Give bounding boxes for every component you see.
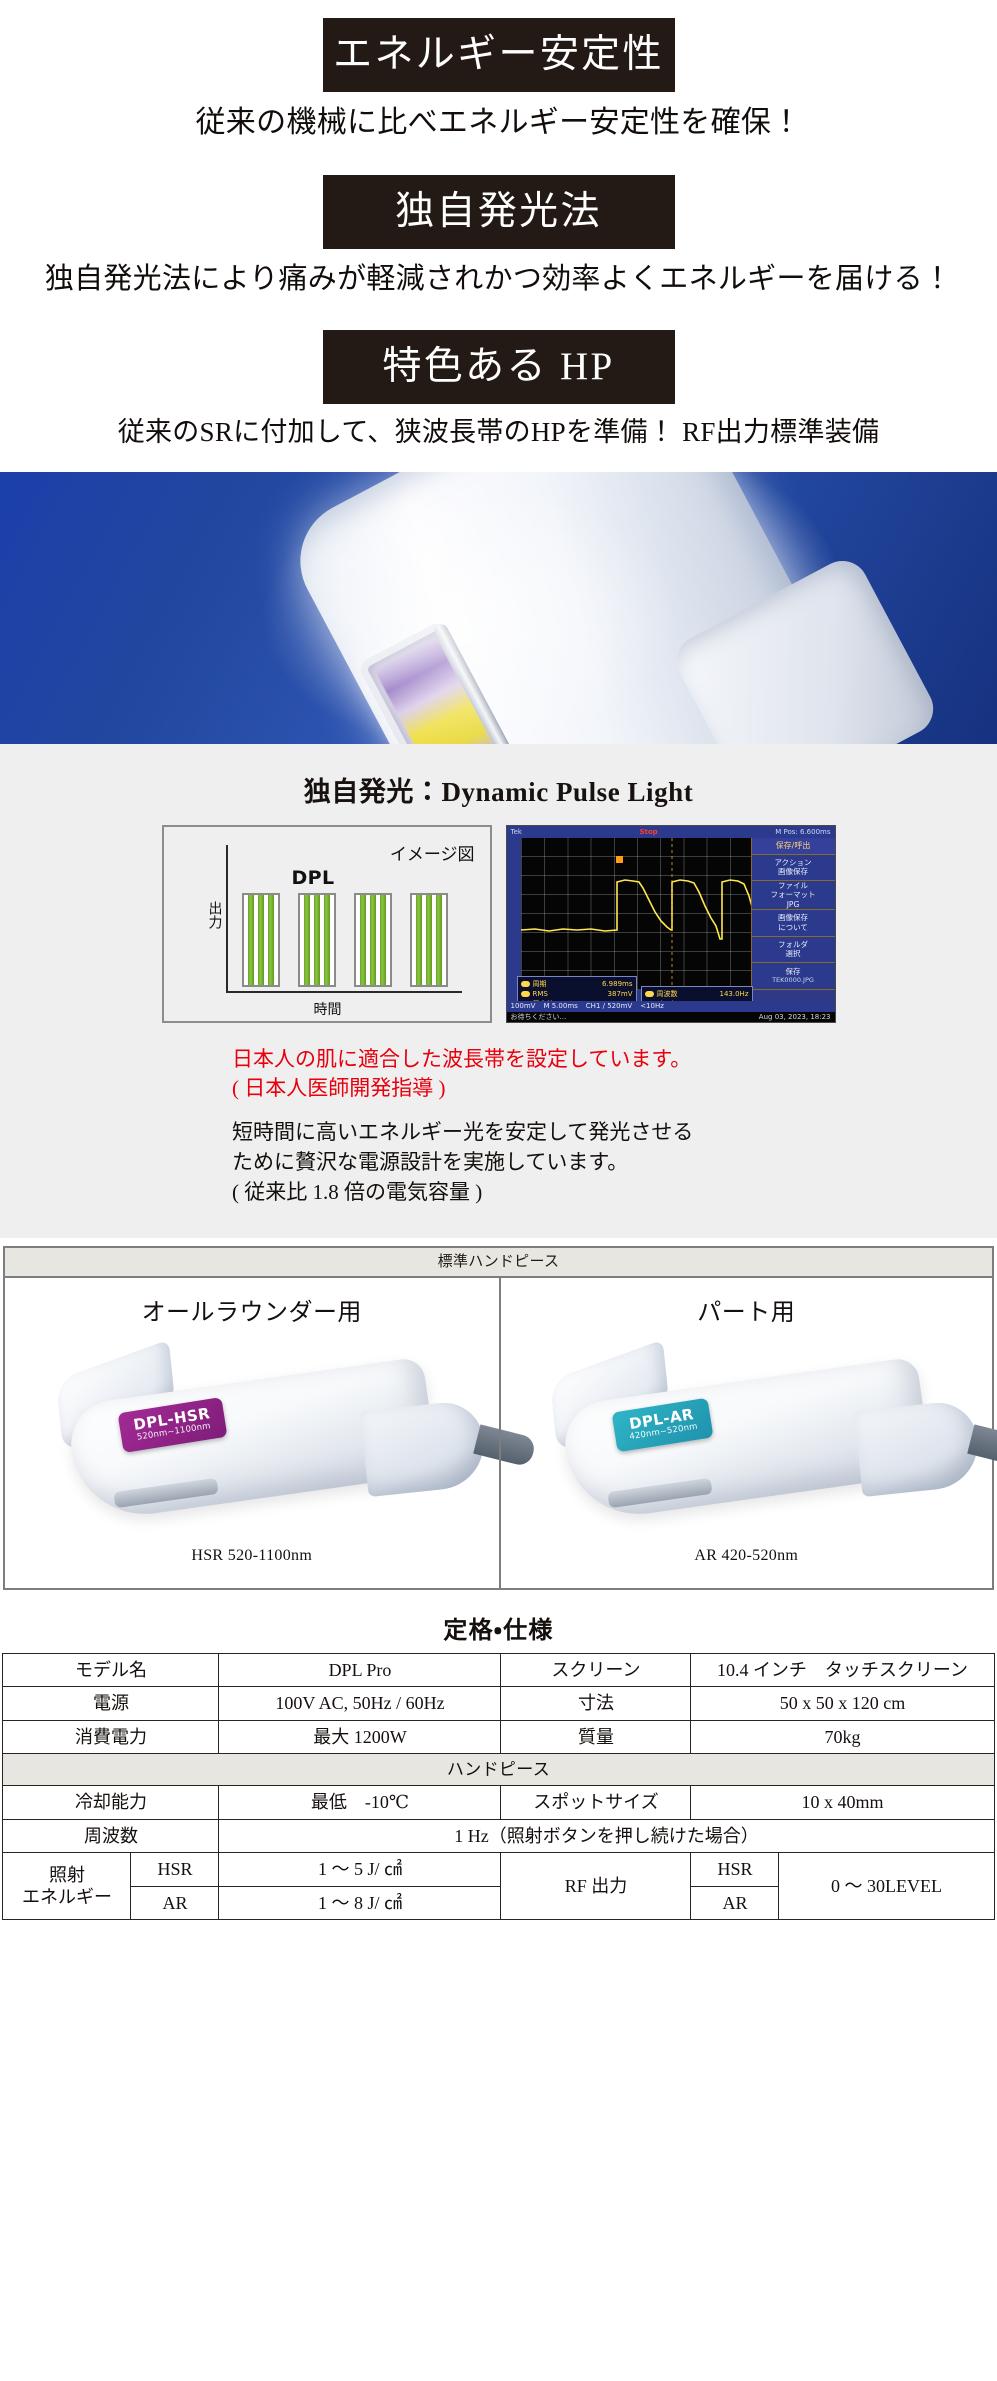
- handpiece-title-part: パート用: [501, 1292, 993, 1327]
- dpl-pulse-chart: イメージ図 DPL 出力 時間: [162, 825, 492, 1023]
- spec-value-hsr-energy: 1 〜 5 J/ ㎠: [219, 1853, 501, 1887]
- spec-value-cooling: 最低 -10℃: [219, 1786, 501, 1820]
- spec-table-title: 定格・仕様: [0, 1610, 997, 1645]
- menu-line-1: 画像保存: [778, 913, 808, 922]
- pulse-group: [410, 893, 448, 987]
- dpl-figures: イメージ図 DPL 出力 時間 Tek Stop M Pos: 6.600ms: [0, 825, 997, 1023]
- label-line-1: 照射: [49, 1865, 85, 1885]
- channel-badge-icon: [521, 981, 530, 987]
- brochure-page: エネルギー安定性 従来の機械に比べエネルギー安定性を確保！ 独自発光法 独自発光…: [0, 0, 997, 1934]
- spec-key-irradiation-energy: 照射 エネルギー: [3, 1853, 131, 1920]
- menu-line-1: アクション: [774, 858, 811, 867]
- feature-block-distinctive-hp: 特色ある HP 従来のSRに付加して、狭波長帯のHPを準備！ RF出力標準装備: [0, 330, 997, 450]
- scope-brand: Tek: [511, 828, 522, 836]
- spec-key-power: 電源: [3, 1687, 219, 1721]
- spec-value-screen: 10.4 インチ タッチスクリーン: [691, 1653, 994, 1687]
- handpiece-caption-ar: AR 420-520nm: [501, 1547, 993, 1565]
- spec-value-rf-output: 0 〜 30LEVEL: [779, 1853, 994, 1920]
- menu-line-2: 画像保存: [778, 867, 808, 876]
- channel-badge-icon: [645, 991, 654, 997]
- scope-menu-item-file-format[interactable]: ファイル フォーマット JPG: [752, 881, 835, 910]
- spec-key-rf-output: RF 出力: [501, 1853, 691, 1920]
- menu-line-2: TEK0000.JPG: [772, 976, 814, 984]
- spec-key-screen: スクリーン: [501, 1653, 691, 1687]
- feature-sub-energy-stability: 従来の機械に比べエネルギー安定性を確保！: [0, 104, 997, 142]
- spec-value-consumption: 最大 1200W: [219, 1720, 501, 1754]
- scope-top-bar: Tek Stop M Pos: 6.600ms: [507, 826, 835, 838]
- handpiece-photo-allrounder: DPL-HSR 520nm~1100nm: [5, 1335, 499, 1545]
- spec-key-cooling: 冷却能力: [3, 1786, 219, 1820]
- spec-table: モデル名 DPL Pro スクリーン 10.4 インチ タッチスクリーン 電源 …: [2, 1653, 994, 1921]
- table-row: 照射 エネルギー HSR 1 〜 5 J/ ㎠ RF 出力 HSR 0 〜 30…: [3, 1853, 994, 1887]
- feature-block-unique-emission: 独自発光法 独自発光法により痛みが軽減されかつ効率よくエネルギーを届ける！: [0, 175, 997, 297]
- feature-chip-energy-stability: エネルギー安定性: [323, 18, 675, 92]
- scope-left-rail: [507, 838, 521, 990]
- menu-line-2: について: [778, 923, 808, 932]
- feature-block-energy-stability: エネルギー安定性 従来の機械に比べエネルギー安定性を確保！: [0, 18, 997, 142]
- readout-name: 周期: [533, 979, 598, 989]
- feature-sub-distinctive-hp: 従来のSRに付加して、狭波長帯のHPを準備！ RF出力標準装備: [0, 416, 997, 450]
- scope-readout-row: 周期 6.989ms: [521, 979, 633, 989]
- table-row: モデル名 DPL Pro スクリーン 10.4 インチ タッチスクリーン: [3, 1653, 994, 1687]
- spec-value-model: DPL Pro: [219, 1653, 501, 1687]
- label-line-2: エネルギー: [22, 1887, 112, 1907]
- note-power-design: 短時間に高いエネルギー光を安定して発光させる ために贅沢な電源設計を実施していま…: [232, 1118, 997, 1207]
- scope-readout-row: 周波数 143.0Hz: [645, 989, 749, 999]
- handpiece-title-allrounder: オールラウンダー用: [5, 1292, 499, 1327]
- chart-x-axis-label: 時間: [314, 999, 342, 1019]
- chart-x-axis: [226, 991, 462, 993]
- feature-chip-distinctive-hp: 特色ある HP: [323, 330, 675, 404]
- pulse-group: [298, 893, 336, 987]
- scope-status-bar: お待ちください... Aug 03, 2023, 18:23: [507, 1012, 835, 1022]
- readout-value: 387mV: [608, 989, 633, 999]
- menu-line-1: ファイル: [778, 881, 808, 890]
- feature-chip-unique-emission: 独自発光法: [323, 175, 675, 249]
- spec-subkey-ar-energy: AR: [131, 1886, 219, 1920]
- scope-status-stop: Stop: [639, 828, 657, 836]
- table-row: 消費電力 最大 1200W 質量 70kg: [3, 1720, 994, 1754]
- menu-line-2: 選択: [786, 949, 801, 958]
- handpiece-column-allrounder: オールラウンダー用 DPL-HSR 520nm~1100nm HSR 520-1…: [5, 1278, 499, 1588]
- channel-badge-icon: [521, 991, 530, 997]
- readout-name: 周波数: [657, 989, 716, 999]
- dpl-notes: 日本人の肌に適合した波長帯を設定しています。 ( 日本人医師開発指導 ) 短時間…: [232, 1045, 997, 1208]
- menu-line-3: JPG: [787, 900, 800, 909]
- spec-key-consumption: 消費電力: [3, 1720, 219, 1754]
- spec-value-weight: 70kg: [691, 1720, 994, 1754]
- spec-key-model: モデル名: [3, 1653, 219, 1687]
- dpl-title: 独自発光：Dynamic Pulse Light: [0, 770, 997, 809]
- scope-menu-item-save[interactable]: 保存 TEK0000.JPG: [752, 963, 835, 989]
- scope-readout-row: RMS 387mV: [521, 989, 633, 999]
- readout-value: 6.989ms: [602, 979, 633, 989]
- table-row: ハンドピース: [3, 1754, 994, 1786]
- spec-subkey-ar-rf: AR: [691, 1886, 779, 1920]
- spec-subkey-hsr-energy: HSR: [131, 1853, 219, 1887]
- handpiece-tail: [360, 1399, 488, 1497]
- table-row: 周波数 1 Hz（照射ボタンを押し続けた場合）: [3, 1819, 994, 1853]
- spec-value-dimensions: 50 x 50 x 120 cm: [691, 1687, 994, 1721]
- spec-section-handpiece: ハンドピース: [3, 1754, 994, 1786]
- feature-sub-unique-emission: 独自発光法により痛みが軽減されかつ効率よくエネルギーを届ける！: [0, 261, 997, 297]
- scope-menu-item-folder-select[interactable]: フォルダ 選択: [752, 937, 835, 963]
- scope-channel-scale: 100mV: [511, 1002, 536, 1010]
- spec-value-ar-energy: 1 〜 8 J/ ㎠: [219, 1886, 501, 1920]
- menu-line-1: 保存: [786, 967, 801, 976]
- scope-menu-item-action-save[interactable]: アクション 画像保存: [752, 855, 835, 881]
- oscilloscope-screenshot: Tek Stop M Pos: 6.600ms 保存/呼出 アクション 画像保存: [506, 825, 836, 1023]
- handpiece-section: 標準ハンドピース オールラウンダー用 DPL-HSR 520nm~1100nm …: [3, 1246, 994, 1590]
- note-japanese-skin-wavelength: 日本人の肌に適合した波長帯を設定しています。 ( 日本人医師開発指導 ): [232, 1045, 997, 1105]
- menu-line-1: フォルダ: [778, 940, 808, 949]
- spec-key-frequency: 周波数: [3, 1819, 219, 1853]
- chart-series-name: DPL: [292, 867, 335, 889]
- chart-y-axis-label: 出力: [204, 901, 224, 929]
- scope-status-text: お待ちください...: [511, 1012, 567, 1022]
- handpiece-tail: [854, 1399, 982, 1497]
- spec-value-frequency: 1 Hz（照射ボタンを押し続けた場合）: [219, 1819, 994, 1853]
- handpiece-caption-hsr: HSR 520-1100nm: [5, 1547, 499, 1565]
- scope-side-menu[interactable]: 保存/呼出 アクション 画像保存 ファイル フォーマット JPG 画像保存 につ…: [751, 838, 835, 990]
- chart-image-label: イメージ図: [389, 839, 476, 866]
- handpiece-photo-part: DPL-AR 420nm~520nm: [501, 1335, 993, 1545]
- spec-key-dimensions: 寸法: [501, 1687, 691, 1721]
- table-row: 冷却能力 最低 -10℃ スポットサイズ 10 x 40mm: [3, 1786, 994, 1820]
- spec-subkey-hsr-rf: HSR: [691, 1853, 779, 1887]
- handpiece-column-part: パート用 DPL-AR 420nm~520nm AR 420-520nm: [499, 1278, 993, 1588]
- scope-timestamp: Aug 03, 2023, 18:23: [759, 1013, 831, 1021]
- spec-key-weight: 質量: [501, 1720, 691, 1754]
- hero-product-photo: [0, 472, 997, 744]
- scope-menu-item-about-image-save[interactable]: 画像保存 について: [752, 910, 835, 936]
- menu-line-2: フォーマット: [771, 890, 816, 899]
- dpl-section: 独自発光：Dynamic Pulse Light イメージ図 DPL 出力 時間…: [0, 744, 997, 1238]
- spec-key-spotsize: スポットサイズ: [501, 1786, 691, 1820]
- handpiece-columns: オールラウンダー用 DPL-HSR 520nm~1100nm HSR 520-1…: [5, 1278, 992, 1588]
- scope-mpos: M Pos: 6.600ms: [775, 828, 830, 836]
- handpiece-section-header: 標準ハンドピース: [5, 1248, 992, 1278]
- scope-trigger-level: CH1 / 520mV: [586, 1002, 632, 1010]
- readout-name: RMS: [533, 989, 604, 999]
- table-row: 電源 100V AC, 50Hz / 60Hz 寸法 50 x 50 x 120…: [3, 1687, 994, 1721]
- scope-menu-header: 保存/呼出: [752, 838, 835, 855]
- scope-waveform: [521, 838, 753, 990]
- chart-y-axis: [226, 845, 228, 993]
- readout-value: 143.0Hz: [720, 989, 749, 999]
- spec-value-power: 100V AC, 50Hz / 60Hz: [219, 1687, 501, 1721]
- scope-bottom-bar: 100mV M 5.00ms CH1 / 520mV <10Hz: [507, 1001, 835, 1012]
- scope-timebase: M 5.00ms: [543, 1002, 577, 1010]
- pulse-group: [354, 893, 392, 987]
- spec-value-spotsize: 10 x 40mm: [691, 1786, 994, 1820]
- pulse-group: [242, 893, 280, 987]
- scope-bandwidth: <10Hz: [640, 1002, 664, 1010]
